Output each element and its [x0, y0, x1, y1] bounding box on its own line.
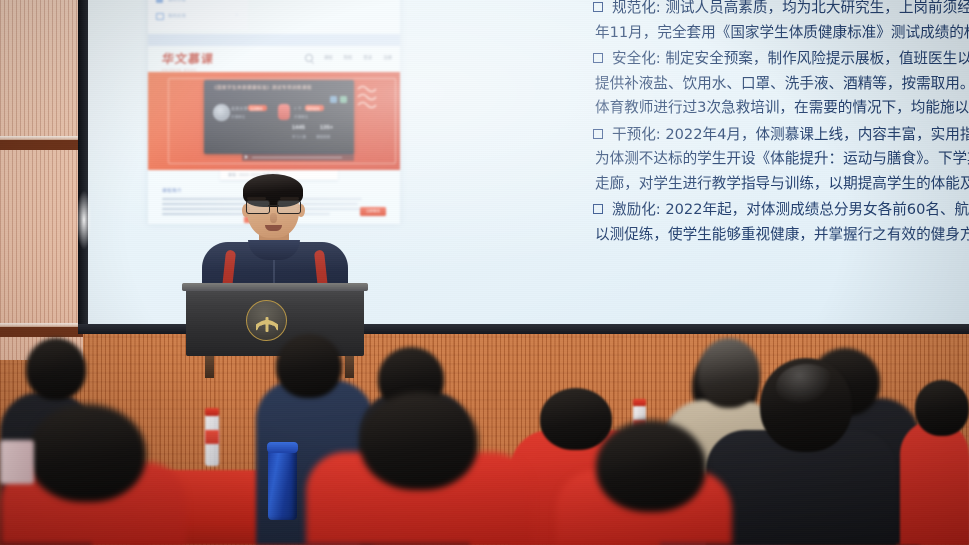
bullet-item: 规范化: 测试人员高素质，均为北大研究生，上岗前须经过认真的培 年11月，完全套…	[593, 0, 969, 45]
stat-learners-label: 学习人数	[292, 134, 306, 139]
decorative-squiggle-icon	[356, 84, 386, 118]
nav-item-register[interactable]: 注册	[383, 55, 392, 61]
bullet-line: 激励化: 2022年起，对体测成绩总分男女各前60名、航体第一名学生	[612, 198, 969, 223]
bullet-line: 以测促练，使学生能够重视健康，并掌握行之有效的健身方法。	[595, 223, 969, 248]
sidebar-item-label: 我的分组	[168, 0, 186, 3]
course-title: 《国家学生体质健康标准》测试专项训练课程	[212, 85, 312, 91]
audience-person	[900, 420, 969, 545]
course-card[interactable]: 《国家学生体质健康标准》测试专项训练课程 北京大学 主讲教师 开课单位 7 个 …	[204, 80, 354, 154]
bottle-cap-icon	[205, 408, 219, 416]
bullet-line: 体育教师进行过3次急救培训，在需要的情况下，均能施以援手。	[595, 96, 969, 121]
grid-icon	[156, 0, 163, 3]
play-icon[interactable]	[245, 155, 248, 159]
nav-item-login[interactable]: 登录	[363, 55, 372, 61]
sidebar-item-groups[interactable]: 我的分组	[156, 0, 186, 3]
section-title: 课程简介	[162, 188, 182, 194]
bullet-item: 激励化: 2022年起，对体测成绩总分男女各前60名、航体第一名学生 以测促练，…	[593, 198, 969, 247]
bottle-cap-icon	[633, 399, 646, 406]
partner-sub: 开课单位	[294, 114, 308, 119]
bottle-label	[205, 430, 219, 444]
site-logo[interactable]: 华文慕课 CHINESE MOOC	[162, 50, 222, 67]
stat-videos-label: 课程视频	[316, 134, 330, 139]
audience-head	[26, 338, 86, 400]
bullet-text: 激励化: 2022年起，对体测成绩总分男女各前60名、航体第一名学生 以测促练，…	[612, 198, 969, 247]
enroll-button-label: 立即报名	[360, 207, 386, 216]
audience-head	[276, 334, 342, 398]
podium-top-surface	[182, 283, 368, 291]
projector-hotspot	[76, 190, 92, 250]
sidebar-item-apps[interactable]: 我的应用	[156, 12, 186, 19]
stat-videos-value: 135+	[320, 125, 333, 131]
instructor-sub: 开课单位	[231, 114, 245, 119]
audience-head	[915, 380, 969, 436]
share-button-icon[interactable]	[340, 96, 347, 103]
share-icon	[156, 12, 163, 19]
site-nav: 课程 院校 登录 注册	[305, 54, 392, 62]
blue-thermos-bottle	[268, 448, 297, 520]
audience-head	[28, 404, 146, 502]
audience-head	[540, 388, 612, 450]
bullet-line: 年11月，完全套用《国家学生体质健康标准》测试成绩的权重	[595, 21, 969, 46]
partner-count: 7 个	[294, 106, 302, 112]
bullet-item: 安全化: 制定安全预案，制作风险提示展板，值班医生以及救护车全 提供补液盐、饮用…	[593, 47, 969, 121]
checkbox-icon	[593, 2, 603, 12]
progress-track[interactable]	[252, 157, 342, 158]
bullet-text: 安全化: 制定安全预案，制作风险提示展板，值班医生以及救护车全 提供补液盐、饮用…	[612, 47, 969, 121]
bullet-line: 为体测不达标的学生开设《体能提升：运动与膳食》。下学期将建立	[595, 147, 969, 172]
nav-item-schools[interactable]: 院校	[344, 55, 353, 61]
wall-left-panel	[0, 0, 83, 360]
speaker-nose	[270, 213, 277, 223]
pku-emblem-icon	[246, 300, 287, 341]
audience-head	[360, 392, 478, 490]
bullet-line: 规范化: 测试人员高素质，均为北大研究生，上岗前须经过认真的培	[612, 0, 969, 21]
pink-cup	[0, 440, 34, 484]
chevron-right-icon: ›	[236, 12, 237, 17]
partner-tag: 合作机构	[307, 106, 320, 111]
nav-item-courses[interactable]: 课程	[324, 55, 333, 61]
instructor-name: 北京大学	[231, 106, 248, 112]
bullet-text: 规范化: 测试人员高素质，均为北大研究生，上岗前须经过认真的培 年11月，完全套…	[612, 0, 969, 45]
wall-joint-upper	[0, 139, 83, 150]
checkbox-icon	[593, 129, 603, 139]
sidebar-item-label: 我的应用	[168, 13, 186, 19]
bullet-line: 提供补液盐、饮用水、口罩、洗手液、酒精等，按需取用。从2019年	[595, 72, 969, 97]
screen-left-bezel	[78, 0, 88, 334]
search-icon[interactable]	[305, 54, 313, 62]
audience-head	[698, 338, 760, 408]
course-card-actions[interactable]	[330, 96, 347, 103]
thermos-cap-icon	[267, 442, 298, 453]
slide-bullet-list: 规范化: 测试人员高素质，均为北大研究生，上岗前须经过认真的培 年11月，完全套…	[593, 0, 969, 249]
audience-head	[596, 420, 706, 512]
enroll-button[interactable]: 立即报名	[360, 207, 386, 216]
webshot-sidebar-menu: 我的分组 › 我的应用 ›	[148, 0, 248, 30]
bullet-line: 走廊，对学生进行教学指导与训练，以期提高学生的体能及掌握动作	[595, 172, 969, 197]
lecture-hall-photo: 我的分组 › 我的应用 › 华文慕课 CHINESE MOOC 课程 院校 登录	[0, 0, 969, 545]
bullet-text: 干预化: 2022年4月，体测慕课上线，内容丰富，实用指导性强。2 为体测不达标…	[612, 123, 969, 197]
bullet-line: 干预化: 2022年4月，体测慕课上线，内容丰富，实用指导性强。2	[612, 123, 969, 148]
join-button-icon[interactable]	[330, 96, 337, 103]
checkbox-icon	[593, 204, 603, 214]
chevron-right-icon: ›	[236, 0, 237, 1]
checkbox-icon	[593, 53, 603, 63]
instructor-avatar	[213, 104, 230, 121]
partner-avatar	[278, 104, 290, 120]
instructor-tag: 主讲教师	[250, 106, 263, 111]
bullet-item: 干预化: 2022年4月，体测慕课上线，内容丰富，实用指导性强。2 为体测不达标…	[593, 123, 969, 197]
webshot-divider	[148, 34, 400, 46]
stat-learners-value: 1445	[292, 125, 305, 131]
glasses-icon	[246, 200, 301, 213]
bullet-line: 安全化: 制定安全预案，制作风险提示展板，值班医生以及救护车全	[612, 47, 969, 72]
hair-highlight	[776, 364, 838, 410]
site-logo-cn: 华文慕课	[161, 50, 223, 67]
wall-joint-lower	[0, 326, 83, 337]
